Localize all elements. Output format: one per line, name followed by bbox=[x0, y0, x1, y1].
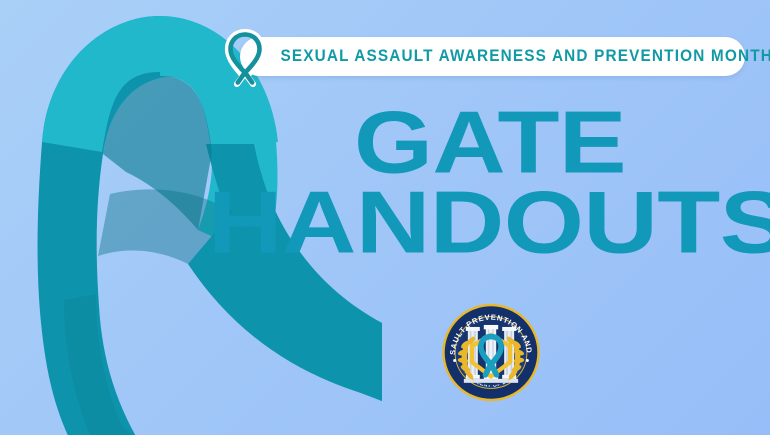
dod-sapr-seal: SEXUAL ASSAULT PREVENTION AND RESPONSE D… bbox=[429, 303, 553, 402]
page-title-line-2: HANDOUTS bbox=[208, 179, 770, 267]
saapm-pill-label: SEXUAL ASSAULT AWARENESS AND PREVENTION … bbox=[280, 37, 717, 76]
awareness-ribbon-icon bbox=[219, 26, 271, 88]
saapm-gate-handouts-banner: SEXUAL ASSAULT AWARENESS AND PREVENTION … bbox=[0, 0, 770, 435]
